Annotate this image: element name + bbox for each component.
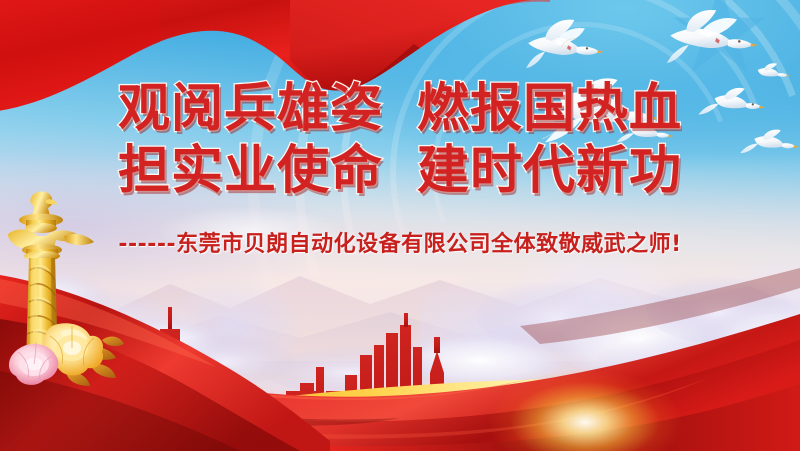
peace-doves xyxy=(500,0,800,170)
patriotic-poster: 观阅兵雄姿燃报国热血 担实业使命建时代新功 ------东莞市贝朗自动化设备有限… xyxy=(0,0,800,451)
red-flag-banner xyxy=(0,0,550,144)
peony-flowers xyxy=(6,320,126,390)
